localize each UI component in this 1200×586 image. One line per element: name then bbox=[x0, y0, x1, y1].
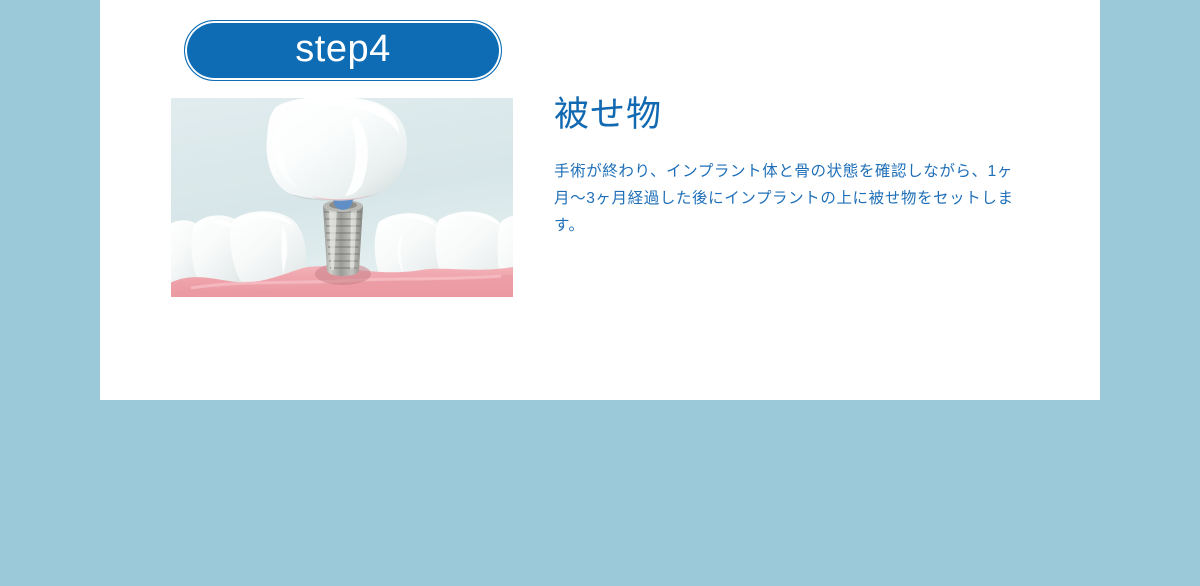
text-column: 被せ物 手術が終わり、インプラント体と骨の状態を確認しながら、1ヶ月〜3ヶ月経過… bbox=[554, 93, 1054, 239]
dental-implant-illustration bbox=[171, 98, 513, 297]
section-title: 被せ物 bbox=[554, 93, 1054, 137]
step-badge: step4 bbox=[184, 20, 502, 81]
step-badge-label: step4 bbox=[295, 30, 390, 71]
section-description: 手術が終わり、インプラント体と骨の状態を確認しながら、1ヶ月〜3ヶ月経過した後に… bbox=[554, 137, 1024, 239]
page-root: step4 bbox=[0, 0, 1200, 586]
